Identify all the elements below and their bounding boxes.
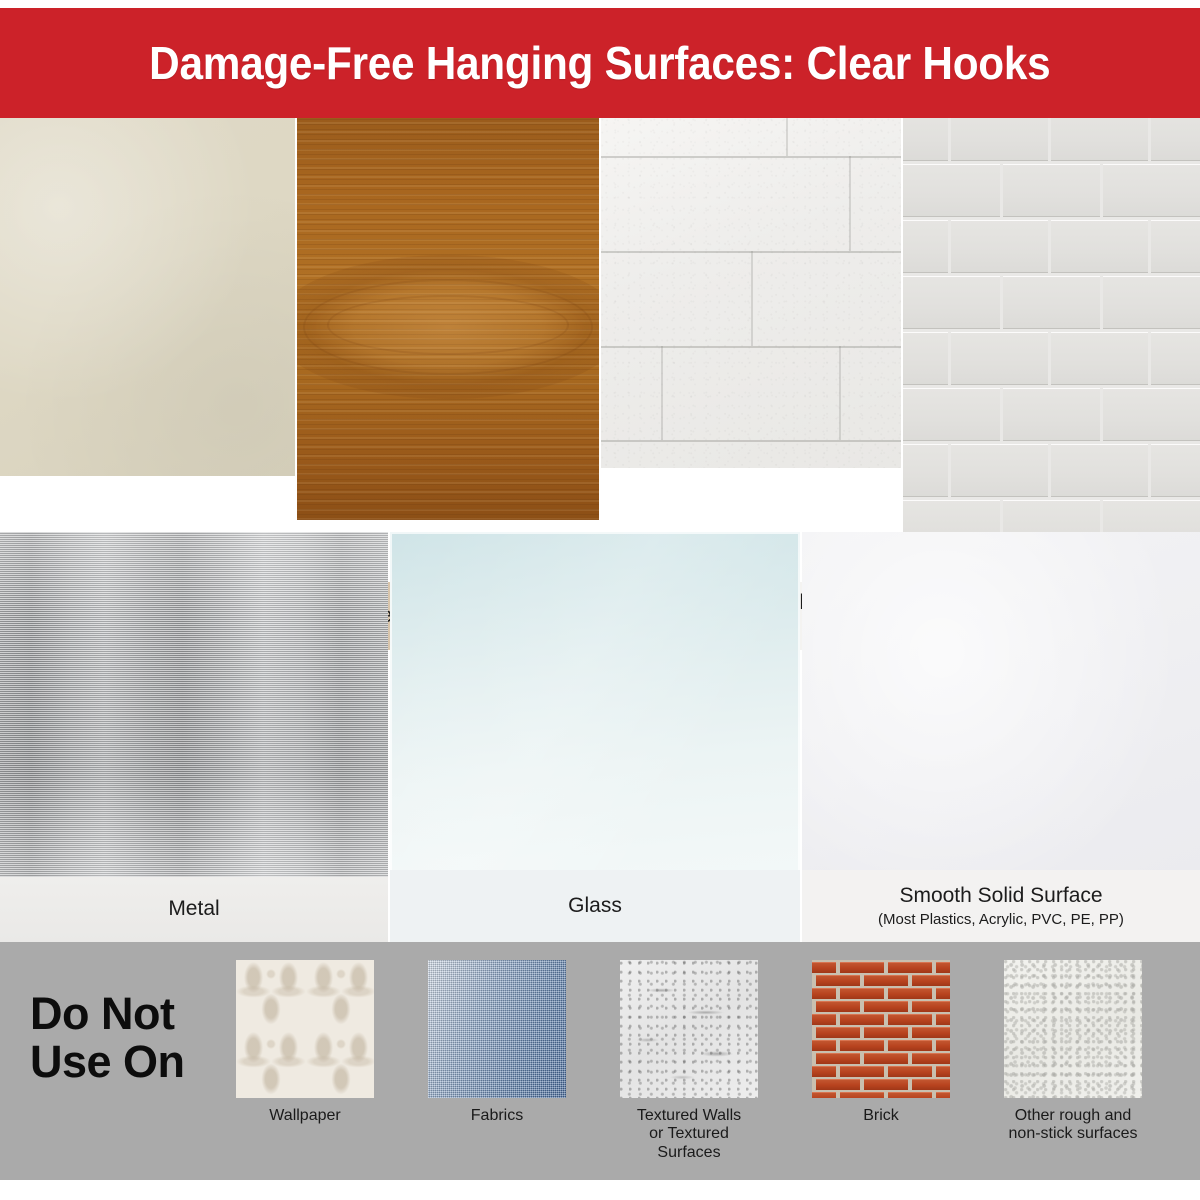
do-not-use-section: Do Not Use On Wallpaper Fabrics Textured… <box>0 942 1200 1180</box>
brick-unit <box>812 962 836 973</box>
tile-unit <box>1051 220 1148 273</box>
tile-unit <box>903 276 1000 329</box>
do-not-use-caption: Textured Walls or Textured Surfaces <box>620 1107 758 1162</box>
tile-unit <box>903 500 1000 532</box>
brick-unit <box>936 1092 950 1098</box>
do-not-use-item-wallpaper: Wallpaper <box>236 960 374 1125</box>
surface-tile-painted-walls <box>0 118 295 476</box>
brick-unit <box>864 1079 908 1090</box>
brick-unit <box>912 1053 950 1064</box>
label-metal: Metal <box>0 877 388 942</box>
tile-unit <box>903 332 948 385</box>
do-not-use-caption: Brick <box>812 1107 950 1125</box>
label-glass: Glass <box>390 870 800 942</box>
brick-unit <box>840 988 884 999</box>
tile-unit <box>1103 500 1200 532</box>
brick-unit <box>840 962 884 973</box>
do-not-use-item-fabrics: Fabrics <box>428 960 566 1125</box>
tile-unit <box>903 118 948 161</box>
brick-unit <box>812 988 836 999</box>
do-not-use-item-brick: Brick <box>812 960 950 1125</box>
label-text: Smooth Solid Surface <box>899 883 1102 908</box>
caption-line1: Brick <box>812 1107 950 1125</box>
do-not-use-caption: Fabrics <box>428 1107 566 1125</box>
tile-unit <box>1103 388 1200 441</box>
brick-unit <box>816 1079 860 1090</box>
tile-unit <box>1003 388 1100 441</box>
brick-unit <box>912 1001 950 1012</box>
brick-thumbnail <box>812 960 950 1098</box>
caption-line2: or Textured Surfaces <box>620 1125 758 1162</box>
cinder-joint-lines <box>601 118 901 468</box>
tile-unit <box>1051 118 1148 161</box>
caption-line2: non-stick surfaces <box>1004 1125 1142 1143</box>
brick-unit <box>840 1066 884 1077</box>
brick-unit <box>888 1014 932 1025</box>
caption-line1: Wallpaper <box>236 1107 374 1125</box>
do-not-use-item-other-rough: Other rough and non-stick surfaces <box>1004 960 1142 1144</box>
caption-line1: Textured Walls <box>620 1107 758 1125</box>
infographic-poster: Damage-Free Hanging Surfaces: Clear Hook… <box>0 0 1200 1200</box>
brick-unit <box>812 1066 836 1077</box>
tile-unit <box>1103 276 1200 329</box>
label-text: Glass <box>568 893 622 918</box>
tile-unit <box>1103 164 1200 217</box>
approved-surfaces-row-1: Painted Walls Painted/Varnished Wood Pai… <box>0 118 1200 532</box>
page-title: Damage-Free Hanging Surfaces: Clear Hook… <box>149 36 1050 90</box>
tile-unit <box>1051 444 1148 497</box>
tile-unit <box>951 220 1048 273</box>
brick-unit <box>812 1092 836 1098</box>
brick-unit <box>912 1027 950 1038</box>
brick-unit <box>812 1014 836 1025</box>
tile-unit <box>1151 220 1200 273</box>
tile-unit <box>951 332 1048 385</box>
subway-tile-grid <box>903 118 1200 532</box>
tile-unit <box>903 220 948 273</box>
tile-unit <box>1151 118 1200 161</box>
label-smooth-solid-surface: Smooth Solid Surface (Most Plastics, Acr… <box>802 870 1200 942</box>
do-not-use-item-textured-walls: Textured Walls or Textured Surfaces <box>620 960 758 1162</box>
tile-unit <box>903 164 1000 217</box>
tile-unit <box>1151 444 1200 497</box>
tile-unit <box>1003 276 1100 329</box>
caption-line1: Other rough and <box>1004 1107 1142 1125</box>
brick-unit <box>840 1014 884 1025</box>
brick-unit <box>936 962 950 973</box>
tile-unit <box>951 118 1048 161</box>
brick-unit <box>864 1053 908 1064</box>
surface-tile-metal <box>0 532 388 877</box>
brick-unit <box>936 1014 950 1025</box>
tile-unit <box>903 444 948 497</box>
do-not-use-title-line1: Do Not <box>30 990 230 1038</box>
do-not-use-caption: Wallpaper <box>236 1107 374 1125</box>
label-text: Metal <box>168 897 219 922</box>
tile-unit <box>1003 164 1100 217</box>
tile-unit <box>1051 332 1148 385</box>
tile-unit <box>951 444 1048 497</box>
fabrics-thumbnail <box>428 960 566 1098</box>
brick-unit <box>936 1040 950 1051</box>
caption-line1: Fabrics <box>428 1107 566 1125</box>
tile-unit <box>1151 332 1200 385</box>
surface-tile-painted-cinder-block <box>601 118 901 468</box>
brick-unit <box>816 975 860 986</box>
surface-tile-tile <box>903 118 1200 532</box>
brick-unit <box>888 1066 932 1077</box>
brick-unit <box>864 1027 908 1038</box>
wood-grain-inner-ring-icon <box>327 295 569 355</box>
wallpaper-thumbnail <box>236 960 374 1098</box>
brick-unit <box>812 1040 836 1051</box>
brick-unit <box>936 1066 950 1077</box>
approved-surfaces-row-2: Metal Glass Smooth Solid Surface (Most P… <box>0 532 1200 942</box>
metal-sheen-overlay <box>0 532 388 877</box>
brick-unit <box>888 1040 932 1051</box>
brick-unit <box>840 1092 884 1098</box>
do-not-use-title-line2: Use On <box>30 1038 230 1086</box>
brick-unit <box>888 1092 932 1098</box>
label-sublabel: (Most Plastics, Acrylic, PVC, PE, PP) <box>878 911 1124 929</box>
textured-walls-thumbnail <box>620 960 758 1098</box>
brick-unit <box>912 1079 950 1090</box>
do-not-use-title: Do Not Use On <box>30 990 230 1085</box>
tile-unit <box>903 388 1000 441</box>
brick-unit <box>864 1001 908 1012</box>
rough-nonstick-thumbnail <box>1004 960 1142 1098</box>
tile-unit <box>1003 500 1100 532</box>
header-banner: Damage-Free Hanging Surfaces: Clear Hook… <box>0 8 1200 118</box>
brick-unit <box>912 975 950 986</box>
brick-unit <box>816 1027 860 1038</box>
brick-unit <box>936 988 950 999</box>
brick-unit <box>840 1040 884 1051</box>
brick-unit <box>864 975 908 986</box>
brick-unit <box>816 1001 860 1012</box>
brick-unit <box>816 1053 860 1064</box>
surface-tile-painted-varnished-wood <box>297 118 599 520</box>
brick-unit <box>888 988 932 999</box>
do-not-use-caption: Other rough and non-stick surfaces <box>1004 1107 1142 1144</box>
brick-unit <box>888 962 932 973</box>
